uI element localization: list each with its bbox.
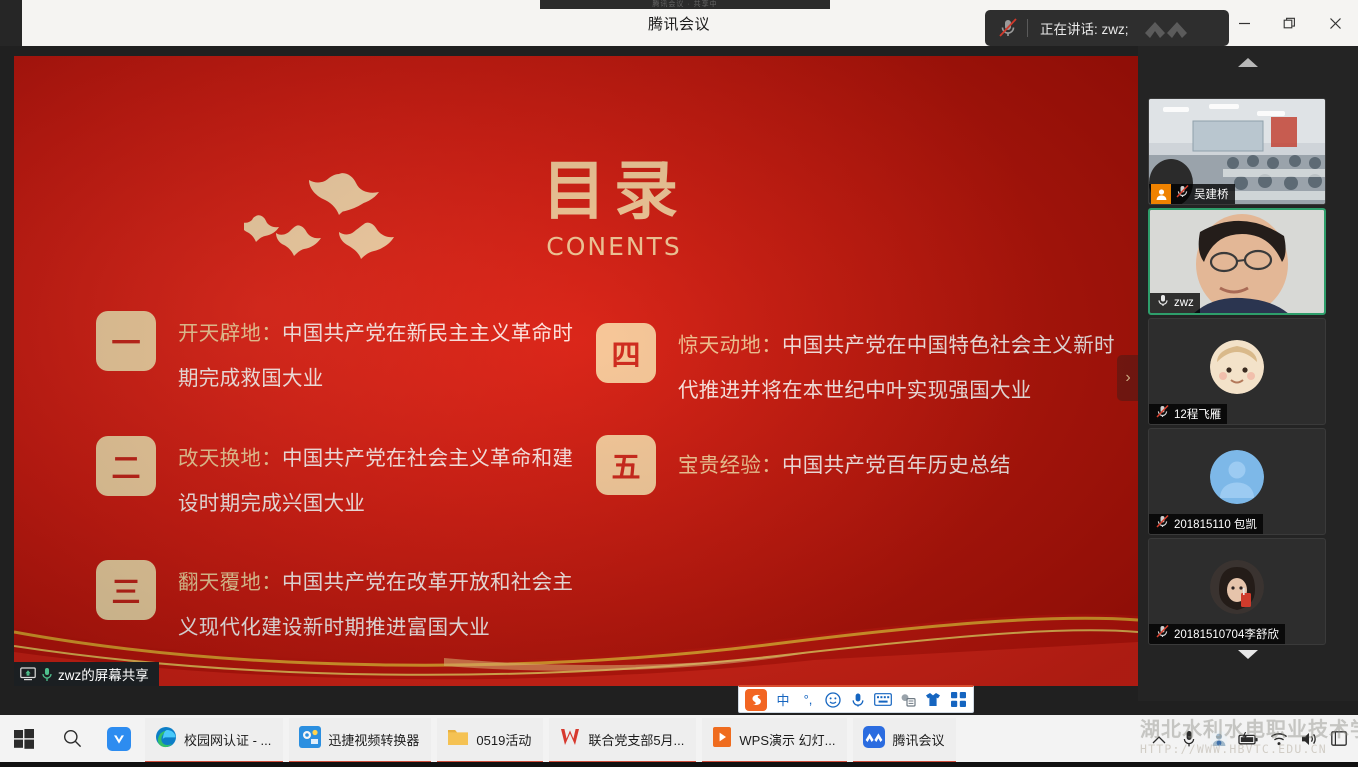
rail-collapse-handle[interactable]: ›	[1117, 355, 1138, 401]
close-button[interactable]	[1312, 0, 1358, 46]
window-title: 腾讯会议	[648, 13, 710, 34]
toc-text-2: 改天换地：中国共产党在社会主义革命和建设时期完成兴国大业	[178, 436, 593, 526]
toc-text-4: 惊天动地：中国共产党在中国特色社会主义新时代推进并将在本世纪中叶实现强国大业	[678, 323, 1133, 413]
toc-number-1: 一	[96, 311, 156, 371]
screen-share-viewport[interactable]: 目录 CONENTS 一 开天辟地：中国共产党在新民主主义革命时期完成救国大业 …	[14, 56, 1138, 686]
participant-nametag: 吴建桥	[1149, 184, 1235, 204]
participant-nametag: 12程飞雁	[1149, 404, 1227, 424]
toc-highlight-1: 开天辟地：	[178, 321, 282, 345]
sogou-ime-toolbar[interactable]: 中 °,	[738, 685, 974, 713]
system-tray	[1144, 715, 1358, 767]
tray-action-center[interactable]	[1324, 715, 1354, 767]
slide-wave-decoration	[14, 566, 1138, 686]
chevron-up-icon	[1152, 732, 1166, 750]
participant-rail: 吴建桥	[1138, 46, 1358, 701]
avatar	[1210, 450, 1264, 504]
participant-tile-2[interactable]: zwz	[1148, 208, 1326, 315]
slide-title-en: CONENTS	[519, 232, 709, 261]
skin-icon[interactable]	[922, 688, 944, 712]
edge-icon	[155, 726, 177, 753]
mic-on-icon	[1156, 293, 1170, 313]
screen-share-label: zwz的屏幕共享	[58, 664, 149, 684]
tray-wifi[interactable]	[1264, 715, 1294, 767]
speaking-label: 正在讲话: zwz;	[1040, 18, 1129, 38]
toc-number-2: 二	[96, 436, 156, 496]
taskbar-app-edge[interactable]: 校园网认证 - ...	[145, 718, 283, 764]
mic-muted-icon	[1155, 404, 1170, 424]
participant-nametag: zwz	[1150, 293, 1200, 313]
chevron-right-icon: ›	[1125, 369, 1130, 387]
soft-keyboard-icon[interactable]	[872, 688, 894, 712]
microphone-icon	[1183, 730, 1195, 753]
taskbar-app-label: 校园网认证 - ...	[184, 730, 271, 749]
tray-volume[interactable]	[1294, 715, 1324, 767]
wps-writer-icon	[559, 726, 581, 753]
participant-name: zwz	[1174, 297, 1194, 309]
taskbar-pinned-wps-cloud[interactable]	[96, 715, 142, 767]
slide-title-block: 目录 CONENTS	[519, 156, 709, 261]
speaking-indicator: 正在讲话: zwz;	[985, 10, 1229, 46]
punctuation-icon[interactable]: °,	[797, 688, 819, 712]
wps-presentation-icon	[712, 726, 732, 753]
participant-tile-5[interactable]: 20181510704李舒欣	[1148, 538, 1326, 645]
screen-bottom-edge	[0, 762, 1358, 767]
tray-account[interactable]	[1204, 715, 1234, 767]
toc-item-2: 二 改天换地：中国共产党在社会主义革命和建设时期完成兴国大业	[96, 436, 593, 526]
toc-number-5: 五	[596, 435, 656, 495]
battery-icon	[1238, 732, 1260, 751]
toc-item-4: 四 惊天动地：中国共产党在中国特色社会主义新时代推进并将在本世纪中叶实现强国大业	[596, 323, 1133, 413]
tencent-meeting-icon	[863, 726, 885, 753]
apps-icon[interactable]	[947, 688, 969, 712]
participant-tile-1[interactable]: 吴建桥	[1148, 98, 1326, 205]
avatar	[1210, 340, 1264, 394]
toc-highlight-2: 改天换地：	[178, 446, 282, 470]
triangle-down-icon	[1237, 649, 1259, 663]
emoji-icon[interactable]	[822, 688, 844, 712]
participant-nametag: 201815110 包凯	[1149, 514, 1263, 534]
participant-tile-4[interactable]: 201815110 包凯	[1148, 428, 1326, 535]
voice-input-icon[interactable]	[847, 688, 869, 712]
toc-item-5: 五 宝贵经验：中国共产党百年历史总结	[596, 435, 1133, 495]
account-icon	[1210, 730, 1228, 753]
taskbar-app-wps-writer[interactable]: 联合党支部5月...	[549, 718, 696, 764]
action-center-icon	[1331, 731, 1347, 751]
start-button[interactable]	[0, 715, 48, 767]
toc-text-1: 开天辟地：中国共产党在新民主主义革命时期完成救国大业	[178, 311, 593, 401]
top-cutoff-text: 腾讯会议 · 共享中	[540, 0, 830, 9]
mic-muted-icon	[995, 15, 1021, 41]
scroll-down-button[interactable]	[1138, 638, 1358, 674]
wps-cloud-icon	[107, 727, 131, 756]
avatar	[1210, 560, 1264, 614]
host-badge-icon	[1151, 184, 1171, 204]
tray-expand-button[interactable]	[1144, 715, 1174, 767]
search-button[interactable]	[48, 715, 96, 767]
mic-muted-icon	[1155, 514, 1170, 534]
taskbar-app-label: 迅捷视频转换器	[328, 730, 419, 749]
window-controls	[1222, 0, 1358, 46]
search-icon	[63, 729, 82, 753]
screen-share-icon	[20, 667, 36, 681]
tray-battery[interactable]	[1234, 715, 1264, 767]
slide-title-cn: 目录	[519, 156, 709, 228]
taskbar-app-folder[interactable]: 0519活动	[437, 718, 543, 764]
screenshot-icon[interactable]	[897, 688, 919, 712]
taskbar-app-label: 0519活动	[476, 730, 531, 749]
taskbar-app-label: 腾讯会议	[892, 730, 944, 749]
screen-share-banner: zwz的屏幕共享	[14, 662, 159, 686]
triangle-up-icon	[1237, 57, 1259, 71]
volume-icon	[1300, 731, 1318, 752]
scroll-up-button[interactable]	[1138, 46, 1358, 82]
folder-icon	[447, 727, 469, 752]
taskbar-app-tencent-meeting[interactable]: 腾讯会议	[853, 718, 956, 764]
screen-root: 腾讯会议 腾讯会议 · 共享中	[0, 0, 1358, 767]
restore-button[interactable]	[1267, 0, 1312, 46]
taskbar-app-label: 联合党支部5月...	[588, 730, 684, 749]
taskbar-app-wps-presentation[interactable]: WPS演示 幻灯...	[702, 718, 847, 764]
tencent-meeting-logo-icon	[1141, 19, 1205, 46]
windows-start-icon	[14, 729, 34, 754]
participant-name: 12程飞雁	[1174, 406, 1221, 422]
toc-item-1: 一 开天辟地：中国共产党在新民主主义革命时期完成救国大业	[96, 311, 593, 401]
participant-tile-3[interactable]: 12程飞雁	[1148, 318, 1326, 425]
sogou-logo-icon[interactable]	[743, 688, 769, 712]
participant-name: 吴建桥	[1194, 186, 1229, 202]
toc-highlight-4: 惊天动地：	[678, 333, 782, 357]
presentation-slide: 目录 CONENTS 一 开天辟地：中国共产党在新民主主义革命时期完成救国大业 …	[14, 56, 1138, 686]
toc-highlight-5: 宝贵经验：	[678, 453, 782, 477]
video-converter-icon	[299, 726, 321, 753]
titlebar-left-strip	[0, 0, 22, 46]
taskbar-app-video-converter[interactable]: 迅捷视频转换器	[289, 718, 431, 764]
speaking-divider	[1027, 19, 1028, 37]
toc-rest-5: 中国共产党百年历史总结	[782, 453, 1011, 477]
taskbar-app-label: WPS演示 幻灯...	[739, 730, 835, 749]
mic-muted-icon	[1175, 184, 1190, 204]
tray-microphone[interactable]	[1174, 715, 1204, 767]
doves-decoration	[244, 156, 474, 276]
participant-name: 201815110 包凯	[1174, 516, 1257, 532]
toc-text-5: 宝贵经验：中国共产党百年历史总结	[678, 435, 1133, 481]
toc-number-4: 四	[596, 323, 656, 383]
wifi-icon	[1270, 732, 1288, 751]
windows-taskbar: 校园网认证 - ... 迅捷视频转换器 0519活动 联合党支部5月... WP	[0, 715, 1358, 767]
chinese-mode-icon[interactable]: 中	[772, 688, 794, 712]
mic-icon	[41, 667, 53, 682]
